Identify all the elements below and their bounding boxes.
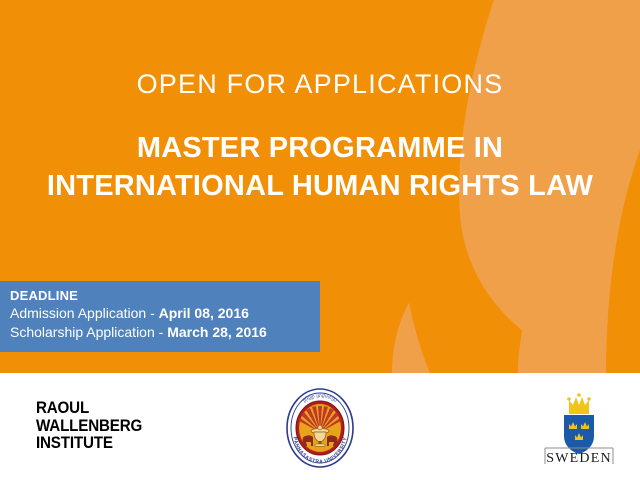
pannasastra-university-seal-icon: ខ្រុរិឦ្បា ប្រាជ្ញាសាស្រ PANNASASTRA UNI… xyxy=(278,388,362,468)
rwi-logo-line-1: RAOUL xyxy=(36,400,142,418)
deadline-row: Scholarship Application - March 28, 2016 xyxy=(10,323,320,342)
deadline-heading: DEADLINE xyxy=(10,287,320,304)
deadline-admission-label: Admission Application - xyxy=(10,305,159,321)
poster-canvas: OPEN FOR APPLICATIONS MASTER PROGRAMME I… xyxy=(0,0,640,480)
raoul-wallenberg-institute-logo: RAOUL WALLENBERG INSTITUTE xyxy=(36,400,142,453)
sweden-wordmark: SWEDEN xyxy=(546,451,612,466)
kicker-text: OPEN FOR APPLICATIONS xyxy=(0,68,640,100)
programme-title-line-1: MASTER PROGRAMME IN xyxy=(0,131,640,165)
sweden-logo-icon: SWEDEN xyxy=(533,388,625,470)
deadline-row: Admission Application - April 08, 2016 xyxy=(10,304,320,323)
rwi-logo-line-3: INSTITUTE xyxy=(36,435,142,453)
rwi-logo-line-2: WALLENBERG xyxy=(36,418,142,436)
deadline-admission-date: April 08, 2016 xyxy=(159,305,249,321)
hero-banner: OPEN FOR APPLICATIONS MASTER PROGRAMME I… xyxy=(0,0,640,373)
programme-title-line-2: INTERNATIONAL HUMAN RIGHTS LAW xyxy=(0,169,640,203)
deadline-scholarship-date: March 28, 2016 xyxy=(167,324,267,340)
deadline-scholarship-label: Scholarship Application - xyxy=(10,324,167,340)
sweden-crown-icon xyxy=(567,393,591,414)
deadline-box: DEADLINE Admission Application - April 0… xyxy=(0,281,320,352)
